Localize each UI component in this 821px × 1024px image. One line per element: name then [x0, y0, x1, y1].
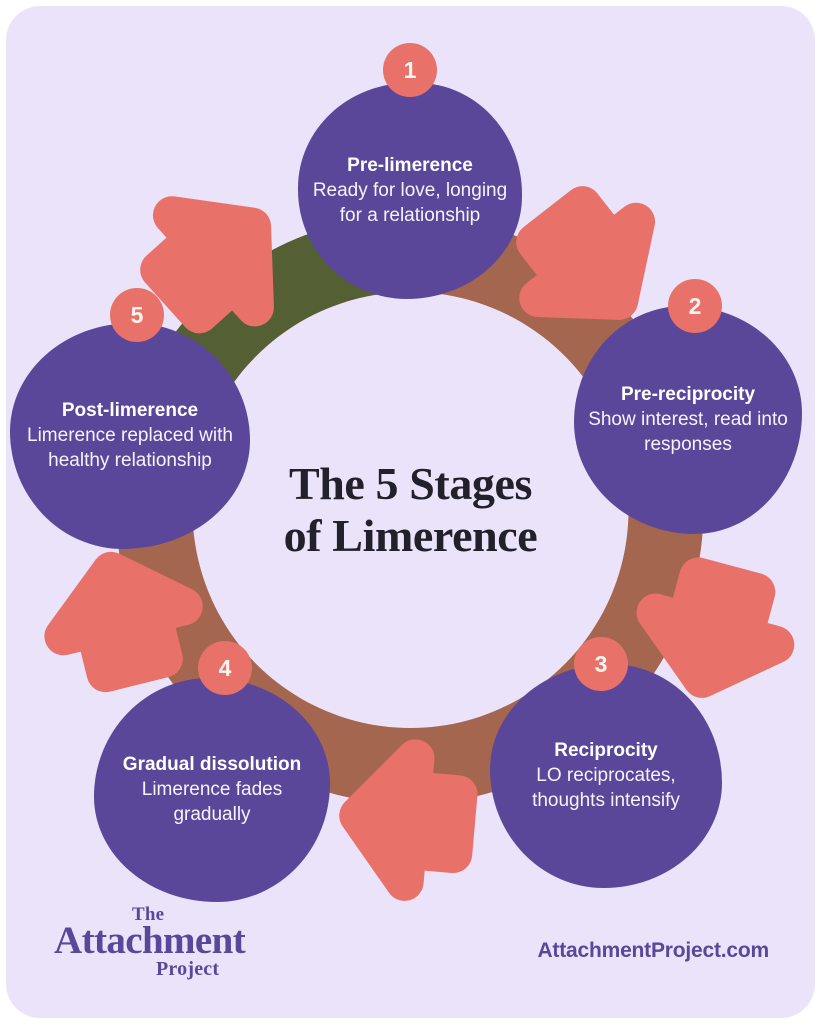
stage-3-title: Reciprocity	[504, 739, 708, 763]
stage-3-description: LO reciprocates, thoughts intensify	[504, 764, 708, 813]
stage-4-number-badge: 4	[198, 641, 252, 695]
stage-5-text: Post-limerence Limerence replaced with h…	[10, 399, 250, 473]
poster-title-line-2: of Limerence	[201, 510, 621, 562]
stage-3-text: Reciprocity LO reciprocates, thoughts in…	[490, 739, 722, 813]
stage-5-title: Post-limerence	[24, 399, 236, 423]
stage-4[interactable]: Gradual dissolution Limerence fades grad…	[94, 678, 330, 902]
stage-4-blob: Gradual dissolution Limerence fades grad…	[94, 678, 330, 902]
stage-4-title: Gradual dissolution	[108, 753, 316, 777]
stage-4-description: Limerence fades gradually	[108, 778, 316, 827]
stage-5-number-badge: 5	[110, 288, 164, 342]
attachment-project-logo: The Attachment Project	[54, 904, 274, 980]
poster-card: Pre-limerence Ready for love, longing fo…	[6, 6, 815, 1018]
poster-title-line-1: The 5 Stages	[289, 458, 532, 509]
stage-1[interactable]: Pre-limerence Ready for love, longing fo…	[298, 83, 522, 299]
stage-2-title: Pre-reciprocity	[588, 383, 788, 407]
stage-3-number-badge: 3	[574, 637, 628, 691]
stage-3[interactable]: Reciprocity LO reciprocates, thoughts in…	[490, 664, 722, 888]
stage-1-blob: Pre-limerence Ready for love, longing fo…	[298, 83, 522, 299]
stage-1-text: Pre-limerence Ready for love, longing fo…	[298, 154, 522, 228]
site-url[interactable]: AttachmentProject.com	[537, 939, 769, 963]
stage-2-description: Show interest, read into responses	[588, 408, 788, 457]
arrow-3-to-4	[353, 754, 461, 886]
stage-2-text: Pre-reciprocity Show interest, read into…	[574, 383, 802, 457]
poster-title: The 5 Stages of Limerence	[201, 458, 621, 561]
logo-project-text: Project	[156, 958, 219, 981]
stage-3-blob: Reciprocity LO reciprocates, thoughts in…	[490, 664, 722, 888]
stage-4-text: Gradual dissolution Limerence fades grad…	[94, 753, 330, 827]
stage-2-number-badge: 2	[668, 279, 722, 333]
stage-1-description: Ready for love, longing for a relationsh…	[312, 179, 508, 228]
stage-1-number-badge: 1	[383, 43, 437, 97]
arrow-4-to-5	[51, 556, 195, 681]
stage-5-description: Limerence replaced with healthy relation…	[24, 424, 236, 473]
logo-attachment-text: Attachment	[54, 921, 245, 960]
stage-1-title: Pre-limerence	[312, 154, 508, 178]
infographic-canvas: Pre-limerence Ready for love, longing fo…	[0, 0, 821, 1024]
